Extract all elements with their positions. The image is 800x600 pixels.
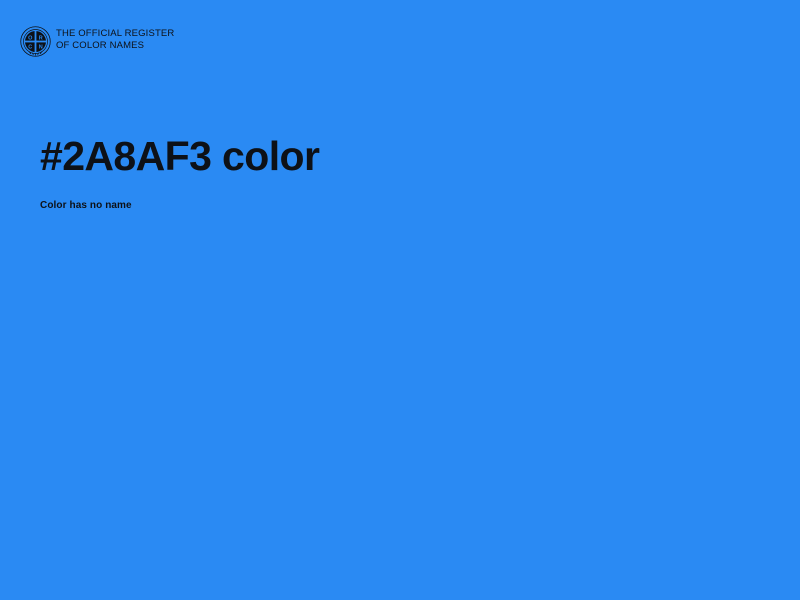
brand-title-line-2: OF COLOR NAMES (56, 40, 174, 52)
brand-title-line-1: THE OFFICIAL REGISTER (56, 28, 174, 40)
brand-lockup[interactable]: O R C N THE OFFICIAL REGISTER OF COLOR N… (20, 26, 174, 57)
svg-text:N: N (39, 45, 43, 51)
svg-text:O: O (28, 35, 33, 41)
official-register-seal-icon: O R C N (20, 26, 51, 57)
page-title: #2A8AF3 color (40, 132, 319, 180)
svg-text:C: C (28, 45, 32, 51)
svg-text:R: R (39, 35, 43, 41)
brand-title: THE OFFICIAL REGISTER OF COLOR NAMES (56, 26, 174, 51)
color-name-status: Color has no name (40, 199, 132, 212)
